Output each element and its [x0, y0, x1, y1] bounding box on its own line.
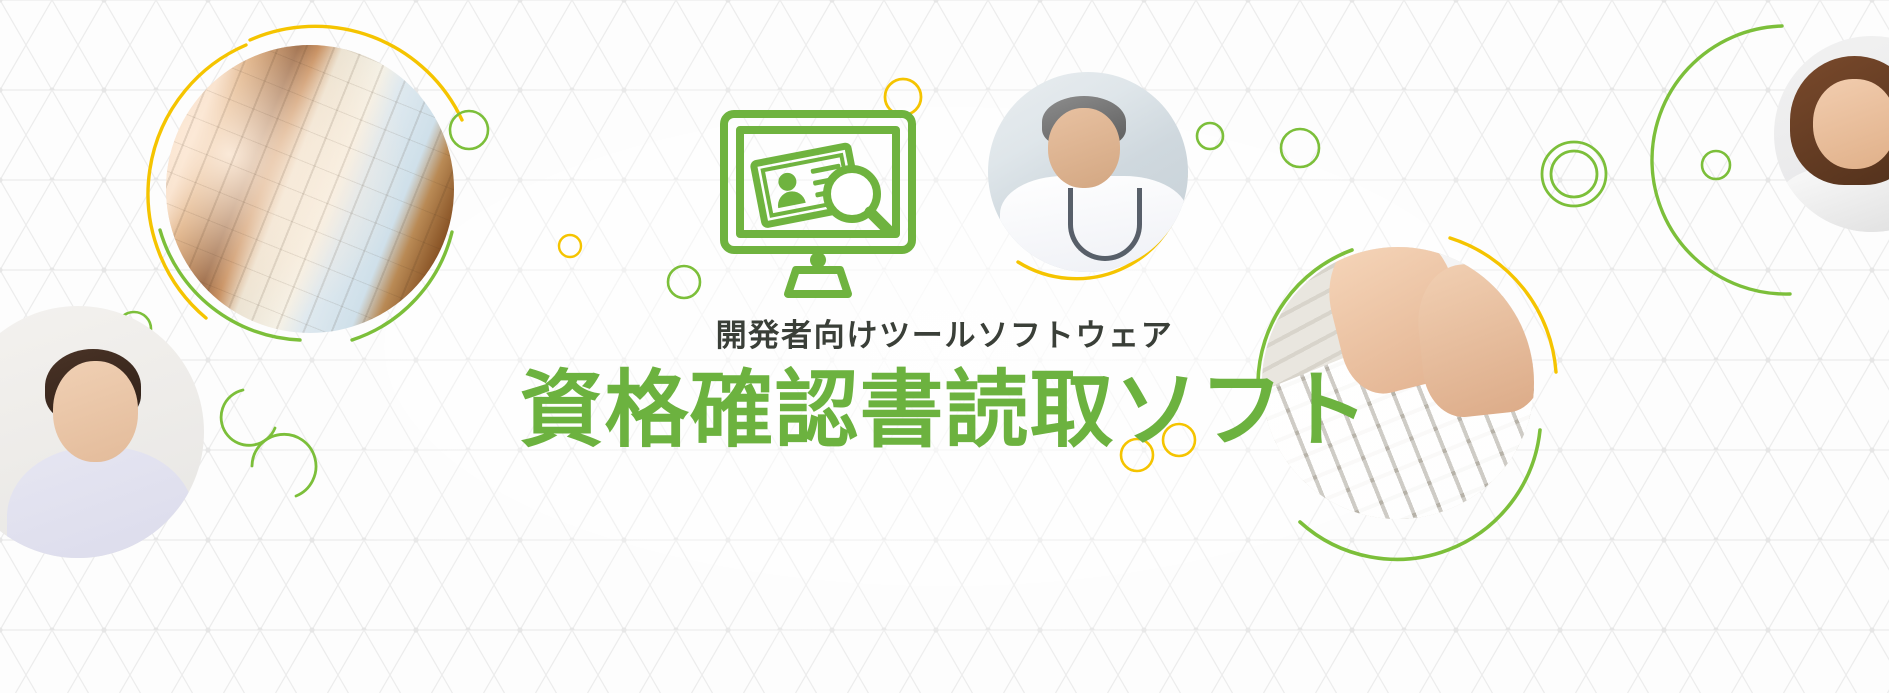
hero-banner: 開発者向けツールソフトウェア 資格確認書読取ソフト	[0, 0, 1889, 693]
monitor-stand	[788, 270, 848, 294]
monitor-power-dot	[810, 252, 826, 268]
photo-woman	[1774, 36, 1889, 232]
magnifier	[827, 169, 890, 232]
hero-text-block: 開発者向けツールソフトウェア 資格確認書読取ソフト	[0, 318, 1889, 456]
photo-insurance-cards	[166, 45, 454, 333]
hero-subtitle: 開発者向けツールソフトウェア	[0, 318, 1889, 355]
hero-title: 資格確認書読取ソフト	[0, 365, 1889, 456]
person-portrait-body	[776, 189, 806, 208]
photo-doctor	[988, 72, 1188, 272]
person-portrait-head	[777, 171, 798, 192]
monitor-id-card-magnifier-icon	[718, 108, 918, 304]
